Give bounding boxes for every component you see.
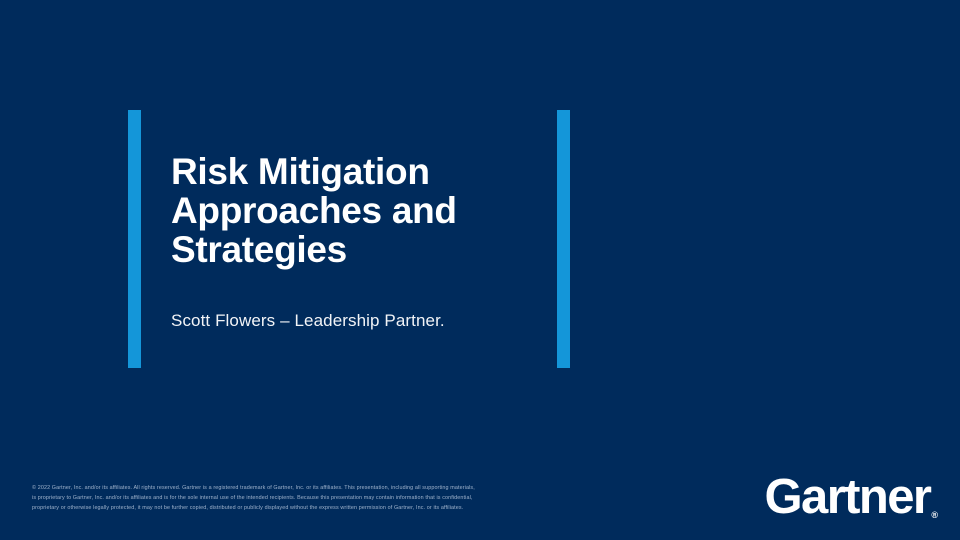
registered-trademark-icon: ® <box>931 511 938 520</box>
slide-subtitle: Scott Flowers – Leadership Partner. <box>171 310 445 332</box>
title-block: Risk Mitigation Approaches and Strategie… <box>171 152 551 269</box>
legal-line-2: is proprietary to Gartner, Inc. and/or i… <box>32 493 602 503</box>
gartner-logo: Gartner ® <box>765 473 938 522</box>
legal-line-3: proprietary or otherwise legally protect… <box>32 503 602 513</box>
legal-line-1: © 2022 Gartner, Inc. and/or its affiliat… <box>32 483 602 493</box>
legal-disclaimer: © 2022 Gartner, Inc. and/or its affiliat… <box>32 483 602 513</box>
title-slide: Risk Mitigation Approaches and Strategie… <box>0 0 960 540</box>
gartner-wordmark: Gartner <box>765 473 931 522</box>
slide-title: Risk Mitigation Approaches and Strategie… <box>171 152 551 269</box>
accent-bar-right <box>557 110 570 368</box>
accent-bar-left <box>128 110 141 368</box>
